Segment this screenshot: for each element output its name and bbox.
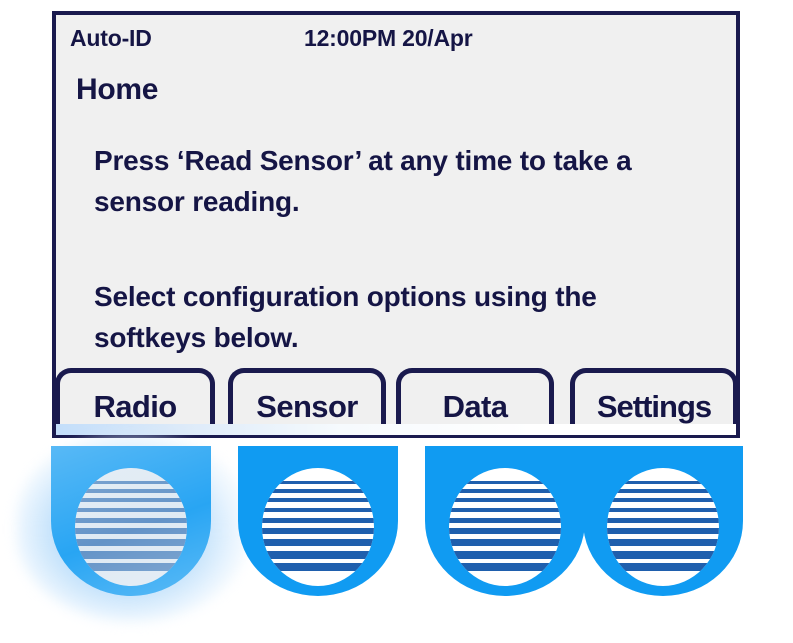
- page-title: Home: [76, 73, 158, 107]
- softkey-button-row: [0, 440, 793, 643]
- status-bar-title: Auto-ID: [70, 25, 152, 52]
- tab-data-label: Data: [401, 389, 549, 425]
- instruction-paragraph-1: Press ‘Read Sensor’ at any time to take …: [94, 141, 714, 222]
- status-bar-clock: 12:00PM 20/Apr: [304, 25, 473, 52]
- status-bar: Auto-ID 12:00PM 20/Apr: [56, 25, 736, 59]
- striped-globe-icon: [75, 468, 187, 586]
- instruction-paragraph-2: Select configuration options using the s…: [94, 277, 714, 358]
- softkey-data[interactable]: [425, 446, 585, 596]
- tab-settings-label: Settings: [575, 389, 733, 425]
- softkey-sensor[interactable]: [238, 446, 398, 596]
- handheld-device: Auto-ID 12:00PM 20/Apr Home Press ‘Read …: [0, 0, 793, 643]
- softkey-radio[interactable]: [51, 446, 211, 596]
- tab-radio-label: Radio: [60, 389, 210, 425]
- striped-globe-icon: [607, 468, 719, 586]
- striped-globe-icon: [262, 468, 374, 586]
- tab-sensor-label: Sensor: [233, 389, 381, 425]
- softkey-settings[interactable]: [583, 446, 743, 596]
- striped-globe-icon: [449, 468, 561, 586]
